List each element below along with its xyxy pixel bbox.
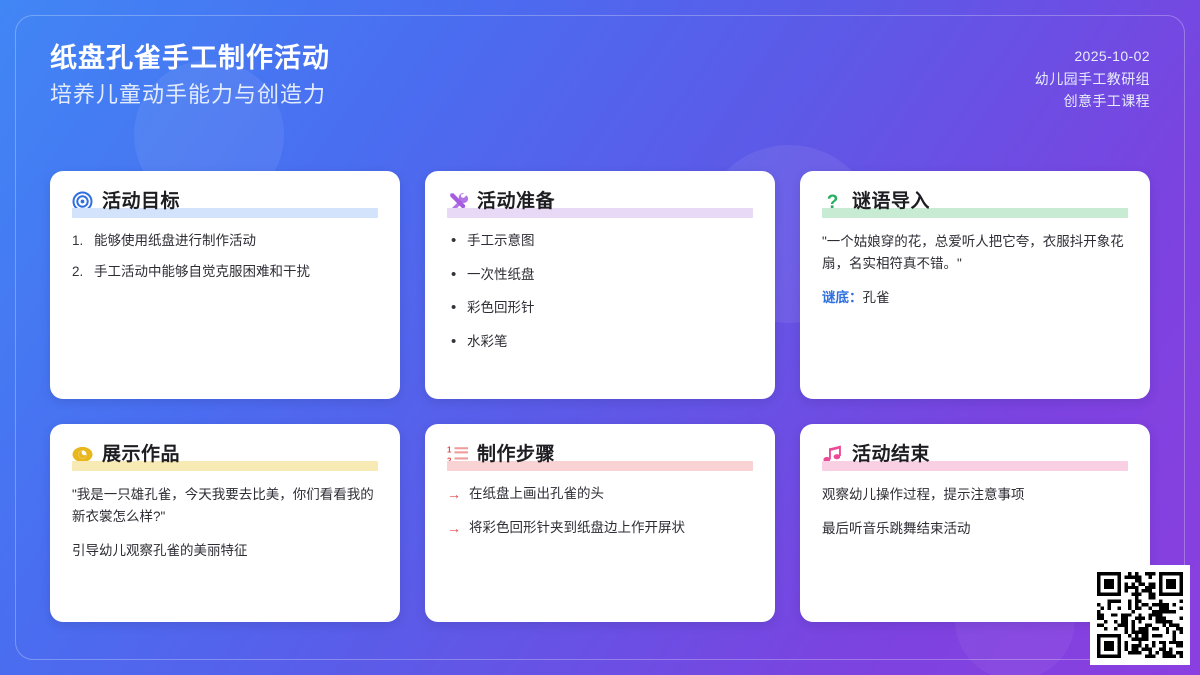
- card-body: "一个姑娘穿的花，总爱听人把它夸，衣服抖开象花扇，名实相符真不错。"谜底：孔雀: [822, 231, 1128, 309]
- card-list: 手工示意图一次性纸盘彩色回形针水彩笔: [447, 231, 753, 352]
- card-title: 活动准备: [477, 192, 555, 211]
- card-grid: 活动目标能够使用纸盘进行制作活动手工活动中能够自觉克服困难和干扰活动准备手工示意…: [50, 171, 1150, 622]
- title-block: 纸盘孔雀手工制作活动 培养儿童动手能力与创造力: [50, 40, 330, 111]
- card-paragraph: 观察幼儿操作过程，提示注意事项: [822, 484, 1128, 506]
- card-paragraph: "我是一只雄孔雀，今天我要去比美，你们看看我的新衣裳怎么样?": [72, 484, 378, 528]
- slide-root: 纸盘孔雀手工制作活动 培养儿童动手能力与创造力 2025-10-02 幼儿园手工…: [0, 0, 1200, 675]
- card-body: 观察幼儿操作过程，提示注意事项最后听音乐跳舞结束活动: [822, 484, 1128, 540]
- list-item: 水彩笔: [447, 332, 753, 353]
- card-header: ?谜语导入: [822, 191, 1128, 218]
- header-meta: 2025-10-02 幼儿园手工教研组 创意手工课程: [1035, 40, 1150, 113]
- page-subtitle: 培养儿童动手能力与创造力: [50, 78, 330, 111]
- riddle-answer-value: 孔雀: [863, 290, 890, 305]
- card-activity-preparation: 活动准备手工示意图一次性纸盘彩色回形针水彩笔: [425, 171, 775, 399]
- card-paragraph: 引导幼儿观察孔雀的美丽特征: [72, 540, 378, 562]
- list-item: 彩色回形针: [447, 298, 753, 319]
- page-title: 纸盘孔雀手工制作活动: [50, 40, 330, 76]
- list-item: 手工示意图: [447, 231, 753, 252]
- qr-code[interactable]: [1090, 565, 1190, 665]
- card-title: 谜语导入: [852, 192, 930, 211]
- meta-organization: 幼儿园手工教研组: [1035, 68, 1150, 91]
- meta-course: 创意手工课程: [1035, 90, 1150, 113]
- card-title: 展示作品: [102, 445, 180, 464]
- card-title: 活动结束: [852, 445, 930, 464]
- riddle-answer-label: 谜底：: [822, 290, 863, 305]
- card-body: 在纸盘上画出孔雀的头将彩色回形针夹到纸盘边上作开屏状: [447, 484, 753, 538]
- card-making-steps: 12制作步骤在纸盘上画出孔雀的头将彩色回形针夹到纸盘边上作开屏状: [425, 424, 775, 622]
- list-item: 能够使用纸盘进行制作活动: [72, 231, 378, 252]
- card-header: 展示作品: [72, 444, 378, 471]
- card-riddle-intro: ?谜语导入"一个姑娘穿的花，总爱听人把它夸，衣服抖开象花扇，名实相符真不错。"谜…: [800, 171, 1150, 399]
- card-list: 在纸盘上画出孔雀的头将彩色回形针夹到纸盘边上作开屏状: [447, 484, 753, 538]
- card-activity-goals: 活动目标能够使用纸盘进行制作活动手工活动中能够自觉克服困难和干扰: [50, 171, 400, 399]
- card-body: 能够使用纸盘进行制作活动手工活动中能够自觉克服困难和干扰: [72, 231, 378, 282]
- card-paragraph: 最后听音乐跳舞结束活动: [822, 518, 1128, 540]
- card-header: 12制作步骤: [447, 444, 753, 471]
- card-body: "我是一只雄孔雀，今天我要去比美，你们看看我的新衣裳怎么样?"引导幼儿观察孔雀的…: [72, 484, 378, 562]
- meta-date: 2025-10-02: [1035, 45, 1150, 68]
- list-item: 在纸盘上画出孔雀的头: [447, 484, 753, 505]
- card-title: 活动目标: [102, 192, 180, 211]
- list-item: 手工活动中能够自觉克服困难和干扰: [72, 262, 378, 283]
- list-item: 将彩色回形针夹到纸盘边上作开屏状: [447, 518, 753, 539]
- card-paragraph: "一个姑娘穿的花，总爱听人把它夸，衣服抖开象花扇，名实相符真不错。": [822, 231, 1128, 275]
- list-item: 一次性纸盘: [447, 265, 753, 286]
- card-list: 能够使用纸盘进行制作活动手工活动中能够自觉克服困难和干扰: [72, 231, 378, 282]
- slide-header: 纸盘孔雀手工制作活动 培养儿童动手能力与创造力 2025-10-02 幼儿园手工…: [50, 40, 1150, 113]
- qr-code-image: [1097, 572, 1183, 658]
- card-show-works: 展示作品"我是一只雄孔雀，今天我要去比美，你们看看我的新衣裳怎么样?"引导幼儿观…: [50, 424, 400, 622]
- card-header: 活动准备: [447, 191, 753, 218]
- card-header: 活动结束: [822, 444, 1128, 471]
- card-header: 活动目标: [72, 191, 378, 218]
- svg-text:1: 1: [447, 446, 452, 455]
- card-body: 手工示意图一次性纸盘彩色回形针水彩笔: [447, 231, 753, 352]
- card-title: 制作步骤: [477, 445, 555, 464]
- riddle-answer: 谜底：孔雀: [822, 287, 1128, 309]
